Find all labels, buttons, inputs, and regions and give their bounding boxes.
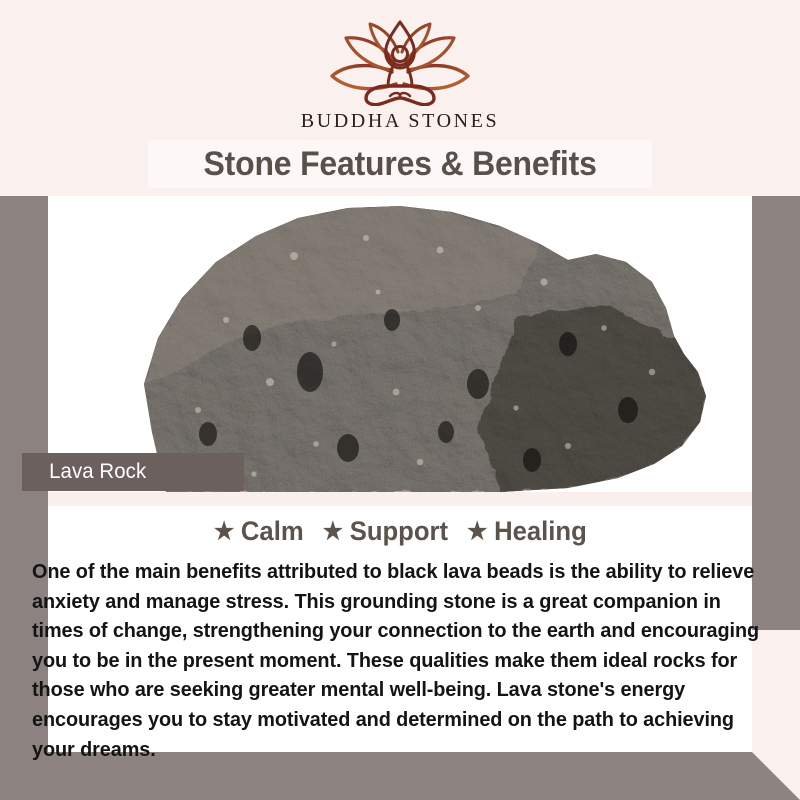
title-banner: Stone Features & Benefits — [148, 140, 652, 188]
photo-separator-strip — [48, 492, 752, 506]
stone-photo — [48, 196, 752, 492]
star-icon: ★ — [214, 520, 234, 544]
benefit-item-healing: ★Healing — [467, 516, 587, 547]
benefit-item-calm: ★Calm — [214, 516, 304, 547]
stone-name-bar: Lava Rock — [22, 453, 244, 491]
poster-header: BUDDHA STONES Stone Features & Benefits — [0, 0, 800, 196]
lava-rock-image — [48, 196, 752, 492]
brand-logo: BUDDHA STONES — [0, 18, 800, 133]
description-paragraph: One of the main benefits attributed to b… — [32, 557, 765, 764]
benefit-label: Calm — [241, 516, 304, 547]
benefit-item-support: ★Support — [322, 516, 447, 547]
page-title: Stone Features & Benefits — [203, 145, 596, 184]
lotus-meditation-figure-icon — [324, 18, 476, 106]
benefit-label: Healing — [494, 516, 587, 547]
stone-info-poster: Lava Rock — [0, 0, 800, 800]
brand-name: BUDDHA STONES — [301, 110, 499, 133]
benefit-label: Support — [349, 516, 447, 547]
star-icon: ★ — [467, 520, 487, 544]
stone-name-label: Lava Rock — [24, 460, 146, 484]
benefits-row: ★Calm★Support★Healing — [48, 516, 752, 547]
star-icon: ★ — [322, 520, 342, 544]
